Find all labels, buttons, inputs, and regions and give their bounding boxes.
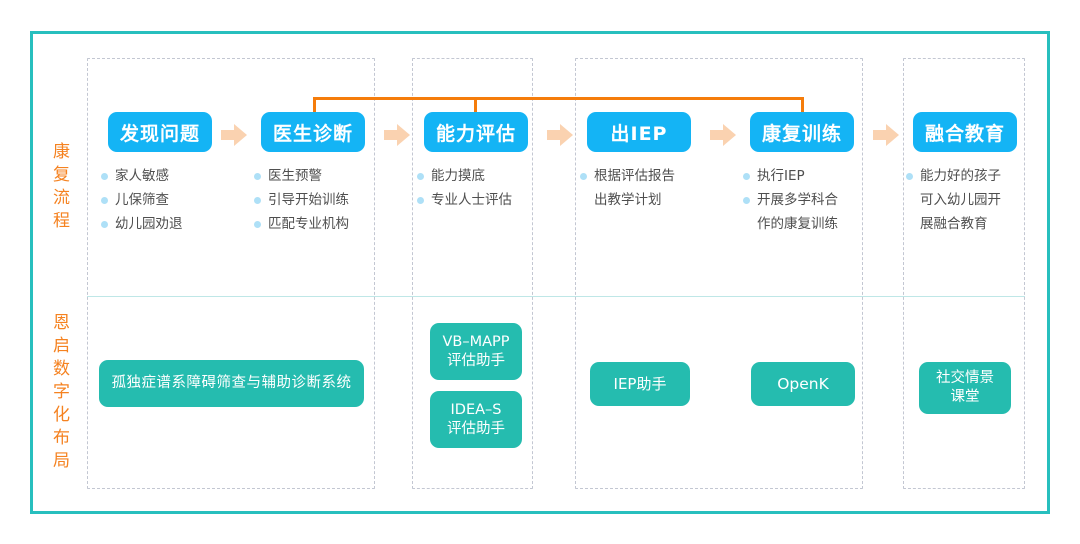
side-label-char: 化	[50, 404, 74, 427]
stage-chip-discover[interactable]: 发现问题	[108, 112, 212, 152]
bullet-text: 医生预警	[268, 168, 322, 184]
bullet-text: 幼儿园劝退	[115, 216, 183, 232]
bullet-text: 能力好的孩子	[920, 168, 1001, 184]
stage-chip-inclusive[interactable]: 融合教育	[913, 112, 1017, 152]
product-chip-social-class[interactable]: 社交情景 课堂	[919, 362, 1011, 414]
bullet-dot-icon	[254, 173, 261, 180]
product-chip-iep-assistant[interactable]: IEP助手	[590, 362, 690, 406]
stage-chip-rehab[interactable]: 康复训练	[750, 112, 854, 152]
side-label-char: 数	[50, 358, 74, 381]
product-chip-line1: 社交情景	[936, 369, 994, 388]
bullet-text: 专业人士评估	[431, 192, 512, 208]
side-label-digital-layout: 恩 启 数 字 化 布 局	[50, 312, 74, 473]
next-stage-arrow-icon	[710, 124, 736, 146]
list-item: 作的康复训练	[743, 214, 863, 234]
list-item: 引导开始训练	[254, 190, 374, 210]
bullet-dot-icon	[254, 197, 261, 204]
stage-chip-diagnosis[interactable]: 医生诊断	[261, 112, 365, 152]
stage-chip-assessment[interactable]: 能力评估	[424, 112, 528, 152]
bullet-text: 开展多学科合	[757, 192, 838, 208]
side-label-char: 启	[50, 335, 74, 358]
bullet-dot-icon	[743, 173, 750, 180]
list-item: 出教学计划	[580, 190, 700, 210]
product-chip-line2: 评估助手	[442, 352, 509, 371]
list-item: 家人敏感	[101, 166, 221, 186]
bullet-dot-icon	[743, 197, 750, 204]
side-label-char: 流	[50, 187, 74, 210]
bullet-dot-icon	[101, 173, 108, 180]
product-chip-line1: VB–MAPP	[442, 333, 509, 352]
side-label-char: 局	[50, 450, 74, 473]
side-label-char: 程	[50, 210, 74, 233]
next-stage-arrow-icon	[221, 124, 247, 146]
stage-bullets-inclusive: 能力好的孩子 可入幼儿园开 展融合教育	[906, 166, 1026, 234]
bullet-dot-icon	[254, 221, 261, 228]
list-item: 儿保筛查	[101, 190, 221, 210]
bullet-dot-icon	[417, 173, 424, 180]
list-item: 开展多学科合	[743, 190, 863, 210]
side-label-char: 字	[50, 381, 74, 404]
bullet-text: 作的康复训练	[757, 216, 838, 232]
stage-bullets-diagnosis: 医生预警 引导开始训练 匹配专业机构	[254, 166, 374, 234]
list-item: 执行IEP	[743, 166, 863, 186]
bullet-text: 可入幼儿园开	[920, 192, 1001, 208]
stage-column-inclusive: 融合教育 能力好的孩子 可入幼儿园开 展融合教育	[904, 112, 1026, 238]
product-chip-line1: IDEA–S	[447, 401, 505, 420]
bullet-text: 根据评估报告	[594, 168, 675, 184]
section-divider	[87, 296, 1025, 297]
product-chip-asd-screening[interactable]: 孤独症谱系障碍筛查与辅助诊断系统	[99, 360, 364, 407]
next-stage-arrow-icon	[384, 124, 410, 146]
side-label-rehab-flow: 康 复 流 程	[50, 141, 74, 233]
bullet-text: 匹配专业机构	[268, 216, 349, 232]
product-chip-line2: 评估助手	[447, 420, 505, 439]
side-label-char: 复	[50, 164, 74, 187]
bullet-dot-icon	[417, 197, 424, 204]
stage-chip-iep[interactable]: 出IEP	[587, 112, 691, 152]
list-item: 幼儿园劝退	[101, 214, 221, 234]
stage-column-iep: 出IEP 根据评估报告 出教学计划	[578, 112, 700, 214]
list-item: 匹配专业机构	[254, 214, 374, 234]
diagram-canvas: 康 复 流 程 恩 启 数 字 化 布 局 发现问题 家人敏感 儿保筛查 幼儿园…	[0, 0, 1080, 544]
product-chip-openk[interactable]: OpenK	[751, 362, 855, 406]
product-chip-line2: 课堂	[936, 388, 994, 407]
next-stage-arrow-icon	[547, 124, 573, 146]
list-item: 展融合教育	[906, 214, 1026, 234]
stage-bullets-discover: 家人敏感 儿保筛查 幼儿园劝退	[101, 166, 221, 234]
bullet-text: 引导开始训练	[268, 192, 349, 208]
product-chip-idea-s[interactable]: IDEA–S 评估助手	[430, 391, 522, 448]
stage-bullets-assessment: 能力摸底 专业人士评估	[417, 166, 537, 210]
bullet-text: 展融合教育	[920, 216, 988, 232]
bullet-text: 家人敏感	[115, 168, 169, 184]
bullet-dot-icon	[101, 221, 108, 228]
bullet-text: 出教学计划	[594, 192, 662, 208]
list-item: 可入幼儿园开	[906, 190, 1026, 210]
stage-bullets-iep: 根据评估报告 出教学计划	[580, 166, 700, 210]
list-item: 能力好的孩子	[906, 166, 1026, 186]
bullet-text: 能力摸底	[431, 168, 485, 184]
bullet-dot-icon	[906, 173, 913, 180]
stage-column-diagnosis: 医生诊断 医生预警 引导开始训练 匹配专业机构	[252, 112, 374, 238]
bullet-dot-icon	[580, 173, 587, 180]
next-stage-arrow-icon	[873, 124, 899, 146]
list-item: 医生预警	[254, 166, 374, 186]
side-label-char: 康	[50, 141, 74, 164]
stage-bullets-rehab: 执行IEP 开展多学科合 作的康复训练	[743, 166, 863, 234]
stage-column-discover: 发现问题 家人敏感 儿保筛查 幼儿园劝退	[99, 112, 221, 238]
bullet-text: 儿保筛查	[115, 192, 169, 208]
list-item: 根据评估报告	[580, 166, 700, 186]
list-item: 专业人士评估	[417, 190, 537, 210]
stage-column-rehab: 康复训练 执行IEP 开展多学科合 作的康复训练	[741, 112, 863, 238]
product-chip-vb-mapp[interactable]: VB–MAPP 评估助手	[430, 323, 522, 380]
bullet-dot-icon	[101, 197, 108, 204]
feedback-loop-horizontal	[313, 97, 804, 100]
stage-column-assessment: 能力评估 能力摸底 专业人士评估	[415, 112, 537, 214]
list-item: 能力摸底	[417, 166, 537, 186]
side-label-char: 恩	[50, 312, 74, 335]
bullet-text: 执行IEP	[757, 168, 805, 184]
side-label-char: 布	[50, 427, 74, 450]
